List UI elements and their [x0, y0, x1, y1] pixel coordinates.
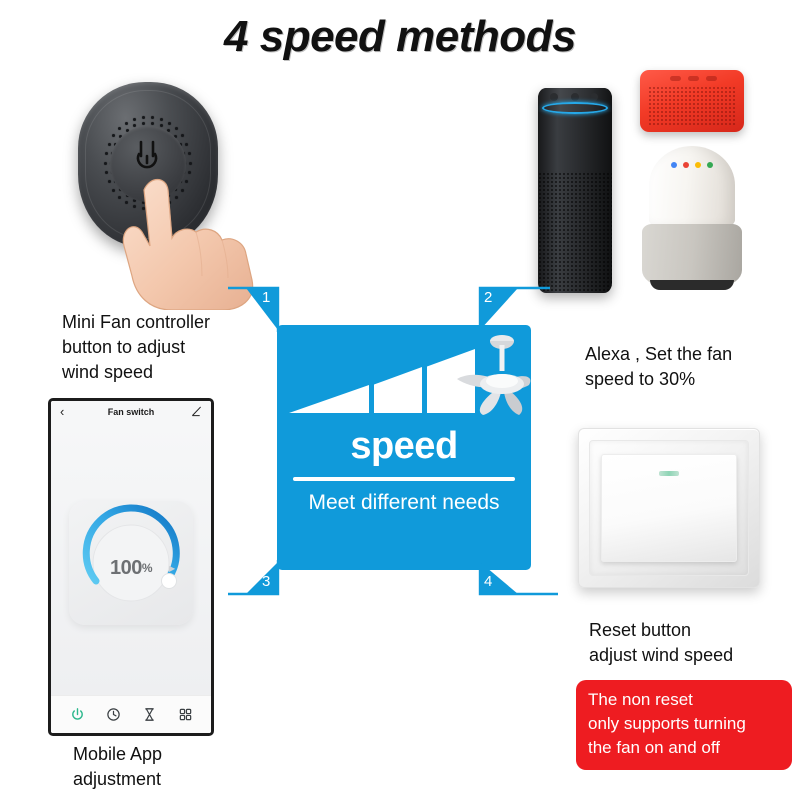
red-speaker-mesh [648, 86, 736, 126]
echo-light-ring [542, 102, 608, 114]
marker-number: 4 [484, 573, 492, 590]
speed-subheadline: Meet different needs [277, 491, 531, 515]
caption-alexa-voice: Alexa , Set the fan speed to 30% [585, 342, 732, 392]
red-bluetooth-speaker [640, 70, 744, 132]
speed-panel: speed Meet different needs [277, 325, 531, 570]
app-body: 100% ▶ [51, 423, 211, 695]
marker-number: 3 [262, 573, 270, 590]
warning-text: The non reset only supports turning the … [588, 688, 782, 760]
page-title: 4 speed methods [0, 12, 800, 62]
smart-speaker-group [530, 70, 800, 305]
clock-icon[interactable] [106, 707, 121, 722]
hourglass-icon[interactable] [142, 707, 157, 722]
speed-divider [293, 477, 515, 481]
caption-mobile-app: Mobile App adjustment [73, 742, 162, 792]
echo-speaker-mesh [538, 172, 612, 293]
google-home-speaker [640, 146, 744, 292]
google-home-foot [650, 280, 734, 290]
connector-marker-1: 1 [228, 286, 280, 332]
marker-number: 1 [262, 289, 270, 306]
grid-icon[interactable] [178, 707, 193, 722]
marker-number: 2 [484, 289, 492, 306]
app-screen-title: Fan switch [108, 407, 155, 417]
speed-graphic [277, 329, 531, 421]
app-header: ‹ Fan switch [51, 401, 211, 423]
switch-rocker[interactable] [601, 454, 737, 562]
google-home-top [649, 146, 735, 228]
edit-pencil-icon[interactable] [191, 406, 202, 417]
amazon-echo-speaker [538, 88, 612, 293]
power-button-icon [130, 138, 164, 180]
infographic-canvas: 4 speed methods [0, 0, 800, 800]
app-bottom-nav [51, 695, 211, 733]
connector-marker-2: 2 [478, 286, 550, 332]
caret-right-icon: ▶ [169, 564, 175, 573]
google-home-fabric-base [642, 224, 742, 286]
connector-marker-3: 3 [228, 560, 280, 606]
speed-headline: speed [277, 425, 531, 468]
caption-reset-button: Reset button adjust wind speed [589, 618, 733, 668]
speed-bars-icon [289, 349, 475, 413]
power-icon[interactable] [70, 707, 85, 722]
switch-indicator-led [659, 471, 679, 476]
chevron-left-icon[interactable]: ‹ [60, 405, 64, 419]
connector-marker-4: 4 [478, 560, 558, 606]
fan-speed-dial[interactable]: 100% ▶ [69, 501, 193, 625]
warning-box: The non reset only supports turning the … [576, 680, 792, 770]
caption-mini-fan-controller: Mini Fan controller button to adjust win… [62, 310, 210, 385]
mobile-app-phone: ‹ Fan switch [48, 398, 214, 736]
mini-fan-controller-device [78, 82, 218, 247]
wall-rocker-switch [578, 428, 760, 588]
